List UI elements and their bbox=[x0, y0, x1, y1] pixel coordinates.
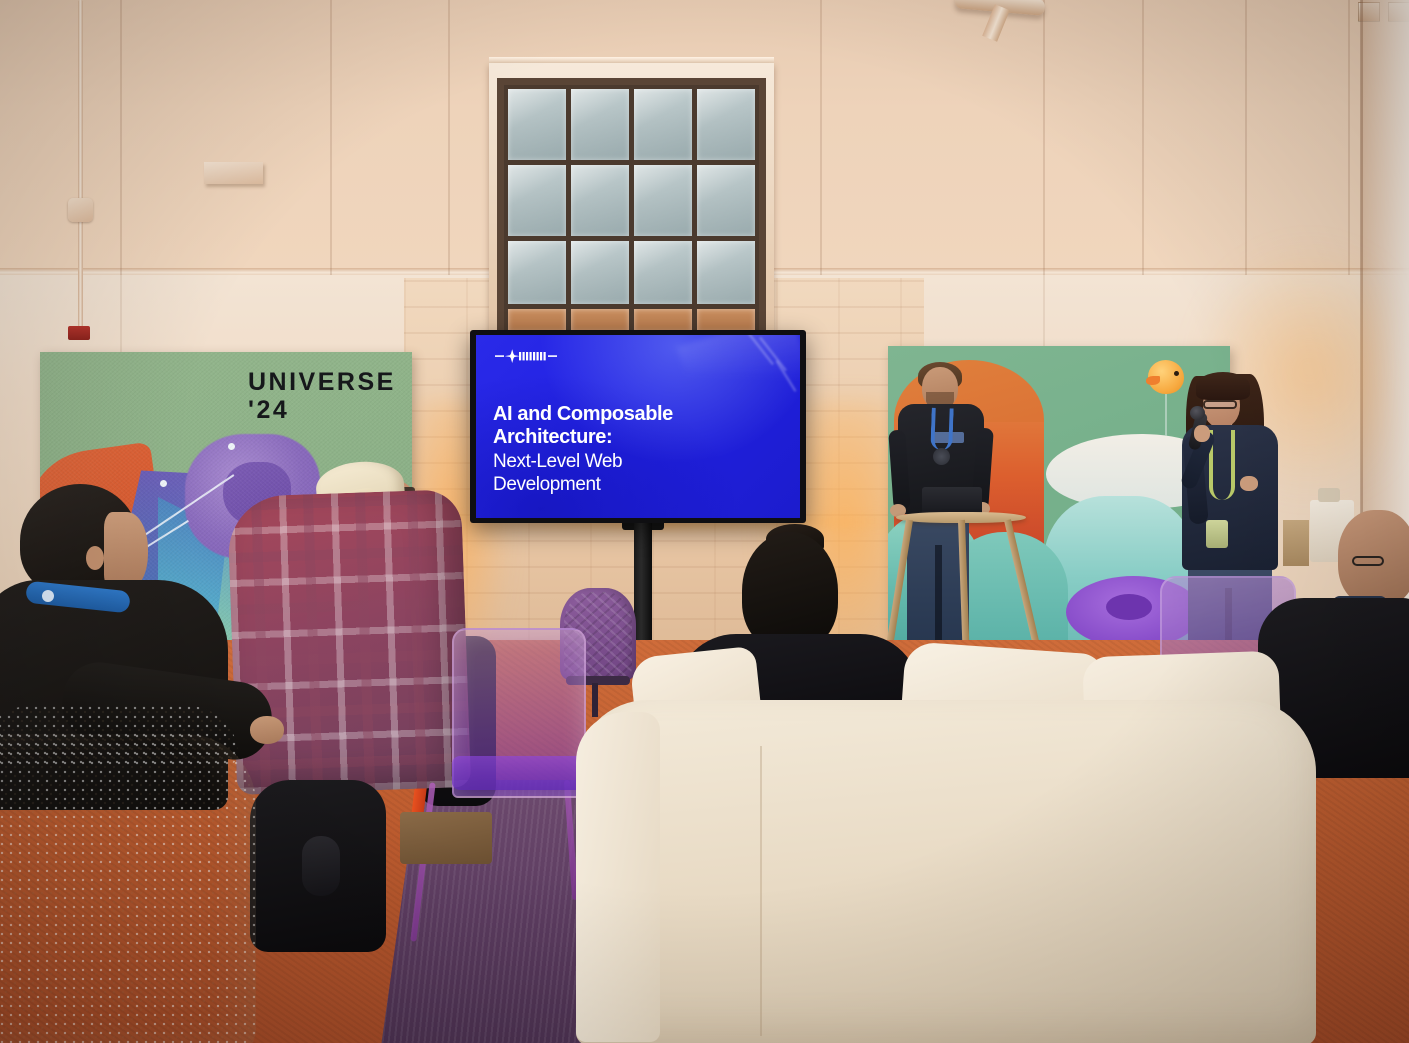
window-pane bbox=[508, 89, 566, 160]
presentation-display[interactable]: AI and Composable Architecture: Next-Lev… bbox=[470, 330, 806, 523]
window-pane bbox=[571, 89, 629, 160]
presenter-badge bbox=[933, 448, 950, 465]
backpack-strap bbox=[302, 836, 340, 896]
fire-alarm-icon bbox=[68, 326, 90, 340]
wall-panel-seam bbox=[1245, 0, 1247, 275]
balloon-string bbox=[1165, 394, 1167, 436]
wall-panel-seam bbox=[1043, 0, 1045, 275]
electrical-conduit bbox=[78, 0, 83, 330]
wall-panel-seam bbox=[1142, 0, 1144, 275]
microphone-head-icon bbox=[1190, 406, 1205, 420]
wall-panel-seam bbox=[448, 0, 450, 275]
slide-subheading-line-2: Development bbox=[493, 474, 743, 497]
poster-title-text: UNIVERSE bbox=[248, 368, 396, 396]
window-pane-blocked bbox=[508, 309, 566, 332]
poster-title: UNIVERSE '24 bbox=[248, 368, 396, 424]
acrylic-chair-seat bbox=[452, 756, 588, 790]
audience-center-head bbox=[742, 532, 838, 650]
presenter-mic-hand bbox=[1194, 425, 1210, 442]
audience-left-hand bbox=[250, 716, 284, 744]
presenter-lanyard bbox=[930, 408, 953, 451]
wall-panel-seam bbox=[820, 0, 822, 275]
window-pane-blocked bbox=[697, 309, 755, 332]
audience-plaid-shirt bbox=[227, 489, 471, 795]
wood-pedestal bbox=[1283, 520, 1309, 566]
pedestal-object bbox=[1318, 488, 1340, 502]
audience-left-ear bbox=[86, 546, 104, 570]
wall-panel-seam bbox=[330, 0, 332, 275]
wall-plate-fixture bbox=[204, 162, 263, 184]
slide-heading-line-2: Architecture: bbox=[493, 426, 743, 449]
conference-room-photo: UNIVERSE '24 bbox=[0, 0, 1409, 1043]
presenter-mic-hand-second bbox=[1240, 476, 1258, 491]
window-pane bbox=[697, 241, 755, 304]
laptop bbox=[922, 487, 982, 513]
window-pane bbox=[634, 89, 692, 160]
presenter-mic-badge bbox=[1206, 520, 1228, 548]
window-pane bbox=[697, 89, 755, 160]
window-pane bbox=[634, 241, 692, 304]
junction-box bbox=[68, 198, 93, 222]
slide-subheading-line-1: Next-Level Web bbox=[493, 451, 743, 474]
window bbox=[497, 78, 766, 343]
duck-eye-icon bbox=[1174, 371, 1179, 376]
audience-left-face bbox=[104, 512, 148, 590]
lanyard-clip-icon bbox=[42, 590, 54, 602]
netlify-logo bbox=[495, 347, 557, 365]
backdrop-shape-purple-hole bbox=[1106, 594, 1152, 620]
slide-heading-line-1: AI and Composable bbox=[493, 403, 743, 426]
cream-sofa[interactable] bbox=[576, 700, 1316, 1043]
duck-beak-icon bbox=[1146, 376, 1160, 385]
poster-year-text: '24 bbox=[248, 396, 396, 424]
window-pane bbox=[634, 165, 692, 236]
presenter-mic-glasses-icon bbox=[1203, 400, 1237, 409]
window-pane bbox=[571, 165, 629, 236]
slide-subheading: Next-Level Web Development bbox=[493, 451, 743, 497]
chair-stem bbox=[592, 683, 598, 717]
window-pane-blocked bbox=[571, 309, 629, 332]
sofa-arm bbox=[576, 712, 660, 1042]
slide-heading: AI and Composable Architecture: bbox=[493, 403, 743, 449]
window-pane bbox=[697, 165, 755, 236]
slide: AI and Composable Architecture: Next-Lev… bbox=[476, 335, 800, 518]
window-pane-blocked bbox=[634, 309, 692, 332]
sofa-seam bbox=[760, 746, 762, 1036]
wall-panel-seam bbox=[1348, 0, 1350, 275]
cardboard-box bbox=[400, 812, 492, 864]
cream-boucle-armchair[interactable] bbox=[0, 734, 256, 1043]
wall-panel-seam bbox=[120, 0, 122, 275]
presenter-mic-hair-top bbox=[1196, 372, 1250, 400]
window-pane bbox=[571, 241, 629, 304]
window-pane bbox=[508, 241, 566, 304]
slide-text-block: AI and Composable Architecture: Next-Lev… bbox=[493, 403, 743, 497]
window-pane bbox=[508, 165, 566, 236]
audience-right-glasses-icon bbox=[1352, 556, 1384, 566]
